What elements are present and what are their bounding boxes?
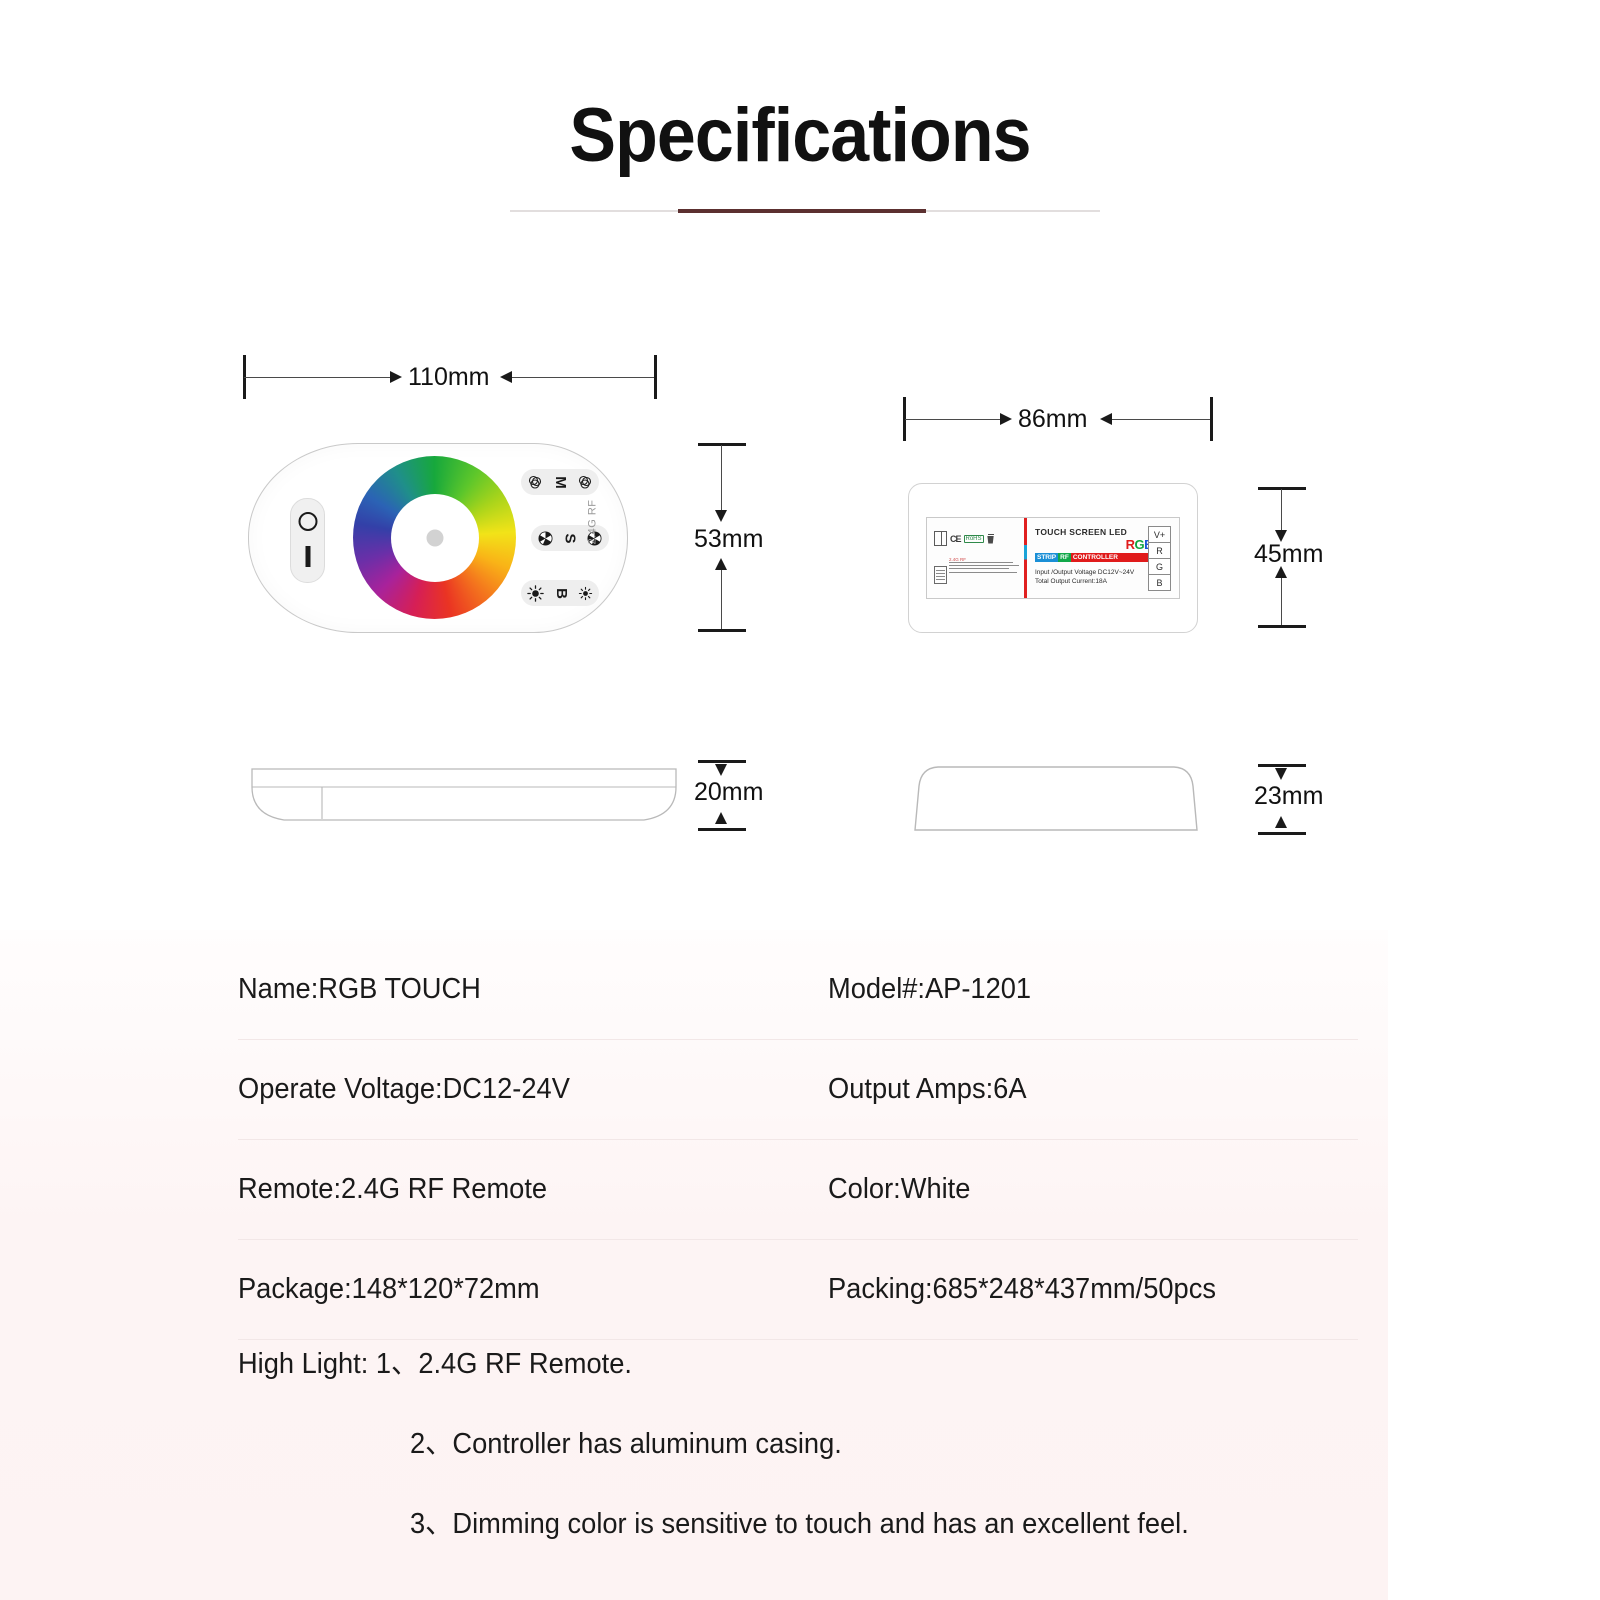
controller-thickness-label: 23mm bbox=[1254, 782, 1323, 811]
controller-thickness-arrow-bottom bbox=[1275, 816, 1287, 828]
page-title: Specifications bbox=[64, 92, 1536, 179]
remote-thickness-tick-top bbox=[698, 760, 746, 763]
power-button[interactable] bbox=[290, 498, 325, 583]
controller-thickness-arrow-top bbox=[1275, 768, 1287, 780]
sun-bright-icon bbox=[527, 585, 544, 602]
controller-thickness-tick-top bbox=[1258, 764, 1306, 767]
remote-height-tick-bottom bbox=[698, 629, 746, 632]
table-row: Name:RGB TOUCH Model#:AP-1201 bbox=[238, 940, 1358, 1040]
remote-height-arrow-top bbox=[715, 510, 727, 522]
badge-controller: CONTROLLER bbox=[1071, 553, 1153, 562]
sun-dim-icon bbox=[578, 586, 593, 601]
spec-packing: Packing:685*248*437mm/50pcs bbox=[828, 1273, 1216, 1306]
rohs-mark: RoHS bbox=[964, 535, 984, 543]
remote-width-label: 110mm bbox=[408, 363, 490, 392]
fineprint-box-icon bbox=[934, 566, 947, 584]
weee-bin-icon bbox=[987, 534, 995, 544]
mode-icon bbox=[577, 474, 593, 490]
brightness-button-group[interactable]: B bbox=[521, 580, 599, 606]
remote-height-line-bottom bbox=[721, 570, 722, 629]
controller-width-label: 86mm bbox=[1018, 405, 1087, 434]
remote-thickness-arrow-bottom bbox=[715, 812, 727, 824]
remote-height-tick-top bbox=[698, 443, 746, 446]
controller-width-tick-right bbox=[1210, 397, 1213, 441]
remote-width-arrow-right bbox=[500, 371, 512, 383]
terminal-vplus: V+ bbox=[1148, 526, 1171, 543]
controller-height-line-bottom bbox=[1281, 578, 1282, 625]
controller-voltage: Input /Output Voltage DC12V~24V bbox=[1035, 568, 1153, 577]
speed-icon bbox=[537, 530, 554, 547]
controller-width-arrow-left bbox=[1000, 413, 1012, 425]
remote-width-line-right bbox=[512, 377, 654, 378]
remote-height-arrow-bottom bbox=[715, 558, 727, 570]
spec-color: Color:White bbox=[828, 1173, 970, 1206]
terminal-b: B bbox=[1148, 574, 1171, 591]
controller-headline: TOUCH SCREEN LED bbox=[1035, 527, 1153, 537]
remote-side-view bbox=[248, 763, 680, 825]
rgb-letter-g: G bbox=[1134, 537, 1144, 552]
power-on-icon bbox=[298, 512, 317, 531]
controller-height-label: 45mm bbox=[1254, 540, 1323, 569]
remote-height-label: 53mm bbox=[694, 525, 763, 554]
spec-model: Model#:AP-1201 bbox=[828, 973, 1031, 1006]
mode-icon bbox=[527, 474, 543, 490]
controller-width-line-right bbox=[1112, 419, 1210, 420]
table-row: Operate Voltage:DC12-24V Output Amps:6A bbox=[238, 1040, 1358, 1140]
controller-brand-text: TOUCH SCREEN LED RGB STRIP RF CONTROLLER… bbox=[1035, 527, 1153, 586]
controller-height-tick-bottom bbox=[1258, 625, 1306, 628]
mode-letter: M bbox=[552, 476, 569, 489]
controller-height-tick-top bbox=[1258, 487, 1306, 490]
terminal-r: R bbox=[1148, 542, 1171, 559]
badge-rf: RF bbox=[1058, 553, 1071, 562]
controller-width-line-left bbox=[905, 419, 1003, 420]
spec-operate-voltage: Operate Voltage:DC12-24V bbox=[238, 1073, 793, 1106]
table-row: Remote:2.4G RF Remote Color:White bbox=[238, 1140, 1358, 1240]
controller-label: CE RoHS 2.4G RF TOUCH SCREEN LED RGB STR… bbox=[926, 517, 1180, 599]
remote-top-view: M S bbox=[248, 443, 628, 633]
high-light-section: High Light: 1、2.4G RF Remote. 2、Controll… bbox=[238, 1340, 1398, 1580]
spec-name: Name:RGB TOUCH bbox=[238, 973, 793, 1006]
power-off-icon bbox=[305, 546, 310, 567]
remote-thickness-arrow-top bbox=[715, 764, 727, 776]
rf-frequency-mark: 2.4G RF bbox=[586, 499, 598, 544]
spec-package: Package:148*120*72mm bbox=[238, 1273, 793, 1306]
spec-remote: Remote:2.4G RF Remote bbox=[238, 1173, 793, 1206]
controller-side-view bbox=[908, 757, 1204, 833]
speed-letter: S bbox=[561, 533, 578, 543]
mode-button-group[interactable]: M bbox=[521, 469, 599, 495]
brightness-letter: B bbox=[553, 588, 570, 599]
rgb-color-wheel[interactable] bbox=[353, 456, 516, 619]
controller-height-line-top bbox=[1281, 489, 1282, 535]
controller-thickness-tick-bottom bbox=[1258, 832, 1306, 835]
controller-badge: STRIP RF CONTROLLER bbox=[1035, 553, 1153, 562]
badge-strip: STRIP bbox=[1035, 553, 1058, 562]
terminal-g: G bbox=[1148, 558, 1171, 575]
fineprint-lines bbox=[949, 562, 1019, 575]
remote-width-line-left bbox=[244, 377, 394, 378]
high-light-line-1: High Light: 1、2.4G RF Remote. bbox=[238, 1340, 1328, 1382]
controller-width-arrow-right bbox=[1100, 413, 1112, 425]
ce-mark: CE bbox=[950, 534, 961, 544]
high-light-line-3: 3、Dimming color is sensitive to touch an… bbox=[410, 1500, 1339, 1542]
remote-thickness-tick-bottom bbox=[698, 828, 746, 831]
remote-thickness-label: 20mm bbox=[694, 778, 763, 807]
title-underline-accent bbox=[678, 209, 926, 213]
terminal-block: V+ R G B bbox=[1148, 526, 1171, 590]
barcode-icon bbox=[934, 531, 947, 546]
controller-rgb-word: RGB bbox=[1035, 538, 1153, 551]
specification-table: Name:RGB TOUCH Model#:AP-1201 Operate Vo… bbox=[238, 940, 1358, 1340]
label-color-stripe bbox=[1024, 518, 1027, 598]
controller-current: Total Output Current:18A bbox=[1035, 577, 1153, 586]
certification-marks: CE RoHS bbox=[934, 531, 995, 546]
table-row: Package:148*120*72mm Packing:685*248*437… bbox=[238, 1240, 1358, 1340]
spec-output-amps: Output Amps:6A bbox=[828, 1073, 1027, 1106]
color-wheel-center-dot bbox=[426, 529, 443, 546]
controller-top-view: CE RoHS 2.4G RF TOUCH SCREEN LED RGB STR… bbox=[908, 483, 1198, 633]
remote-width-arrow-left bbox=[390, 371, 402, 383]
high-light-line-2: 2、Controller has aluminum casing. bbox=[410, 1420, 1339, 1462]
remote-height-line-top bbox=[721, 445, 722, 515]
remote-width-tick-right bbox=[654, 355, 657, 399]
